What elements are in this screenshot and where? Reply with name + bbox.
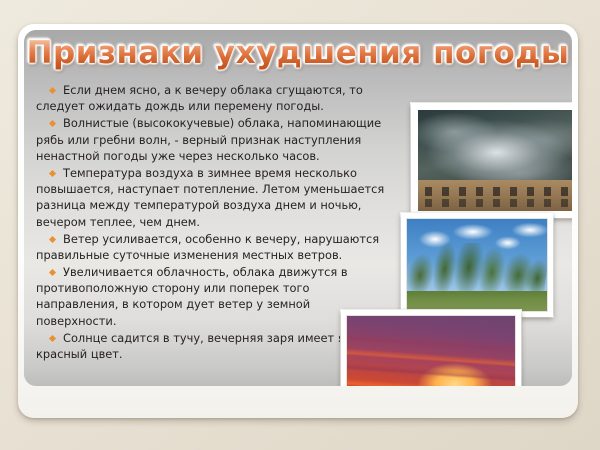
title-area: Признаки ухудшения погоды — [24, 34, 572, 72]
list-item: Ветер усиливается, особенно к вечеру, на… — [36, 231, 388, 264]
list-item-text: Если днем ясно, а к вечеру облака сгущаю… — [36, 83, 363, 113]
photo-wind-bent-trees — [401, 213, 553, 317]
list-item-text: Увеличивается облачность, облака движутс… — [36, 265, 348, 328]
photo-frame-inner — [346, 315, 516, 386]
storm-building-image — [418, 180, 572, 211]
content-panel: Признаки ухудшения погоды Если днем ясно… — [24, 30, 572, 386]
page-title: Признаки ухудшения погоды — [27, 34, 570, 72]
list-item-text: Температура воздуха в зимнее время неско… — [36, 166, 384, 229]
list-item-text: Солнце садится в тучу, вечерняя заря име… — [36, 331, 370, 361]
slide-canvas: Признаки ухудшения погоды Если днем ясно… — [0, 0, 600, 450]
wind-grass-image — [407, 291, 547, 311]
photo-frame-inner — [406, 218, 548, 312]
slide-card: Признаки ухудшения погоды Если днем ясно… — [18, 24, 578, 418]
bullet-diamond-icon — [49, 87, 56, 94]
photo-frame-inner — [416, 108, 572, 213]
list-item: Увеличивается облачность, облака движутс… — [36, 264, 388, 329]
list-item: Температура воздуха в зимнее время неско… — [36, 165, 388, 230]
photo-storm-clouds-over-building — [411, 103, 572, 218]
bullet-diamond-icon — [49, 170, 56, 177]
list-item: Если днем ясно, а к вечеру облака сгущаю… — [36, 82, 388, 115]
list-item-text: Волнистые (высококучевые) облака, напоми… — [36, 116, 381, 163]
wind-trees-image — [406, 243, 548, 295]
photo-red-sunset-over-city — [341, 310, 521, 386]
list-item-text: Ветер усиливается, особенно к вечеру, на… — [36, 232, 379, 262]
bullet-diamond-icon — [49, 120, 56, 127]
bullet-diamond-icon — [49, 236, 56, 243]
list-item: Волнистые (высококучевые) облака, напоми… — [36, 115, 388, 164]
bullet-list: Если днем ясно, а к вечеру облака сгущаю… — [36, 82, 388, 363]
list-item: Солнце садится в тучу, вечерняя заря име… — [36, 330, 388, 363]
sunset-cloud-streaks — [347, 316, 515, 386]
bullet-diamond-icon — [49, 335, 56, 342]
bullet-diamond-icon — [49, 269, 56, 276]
